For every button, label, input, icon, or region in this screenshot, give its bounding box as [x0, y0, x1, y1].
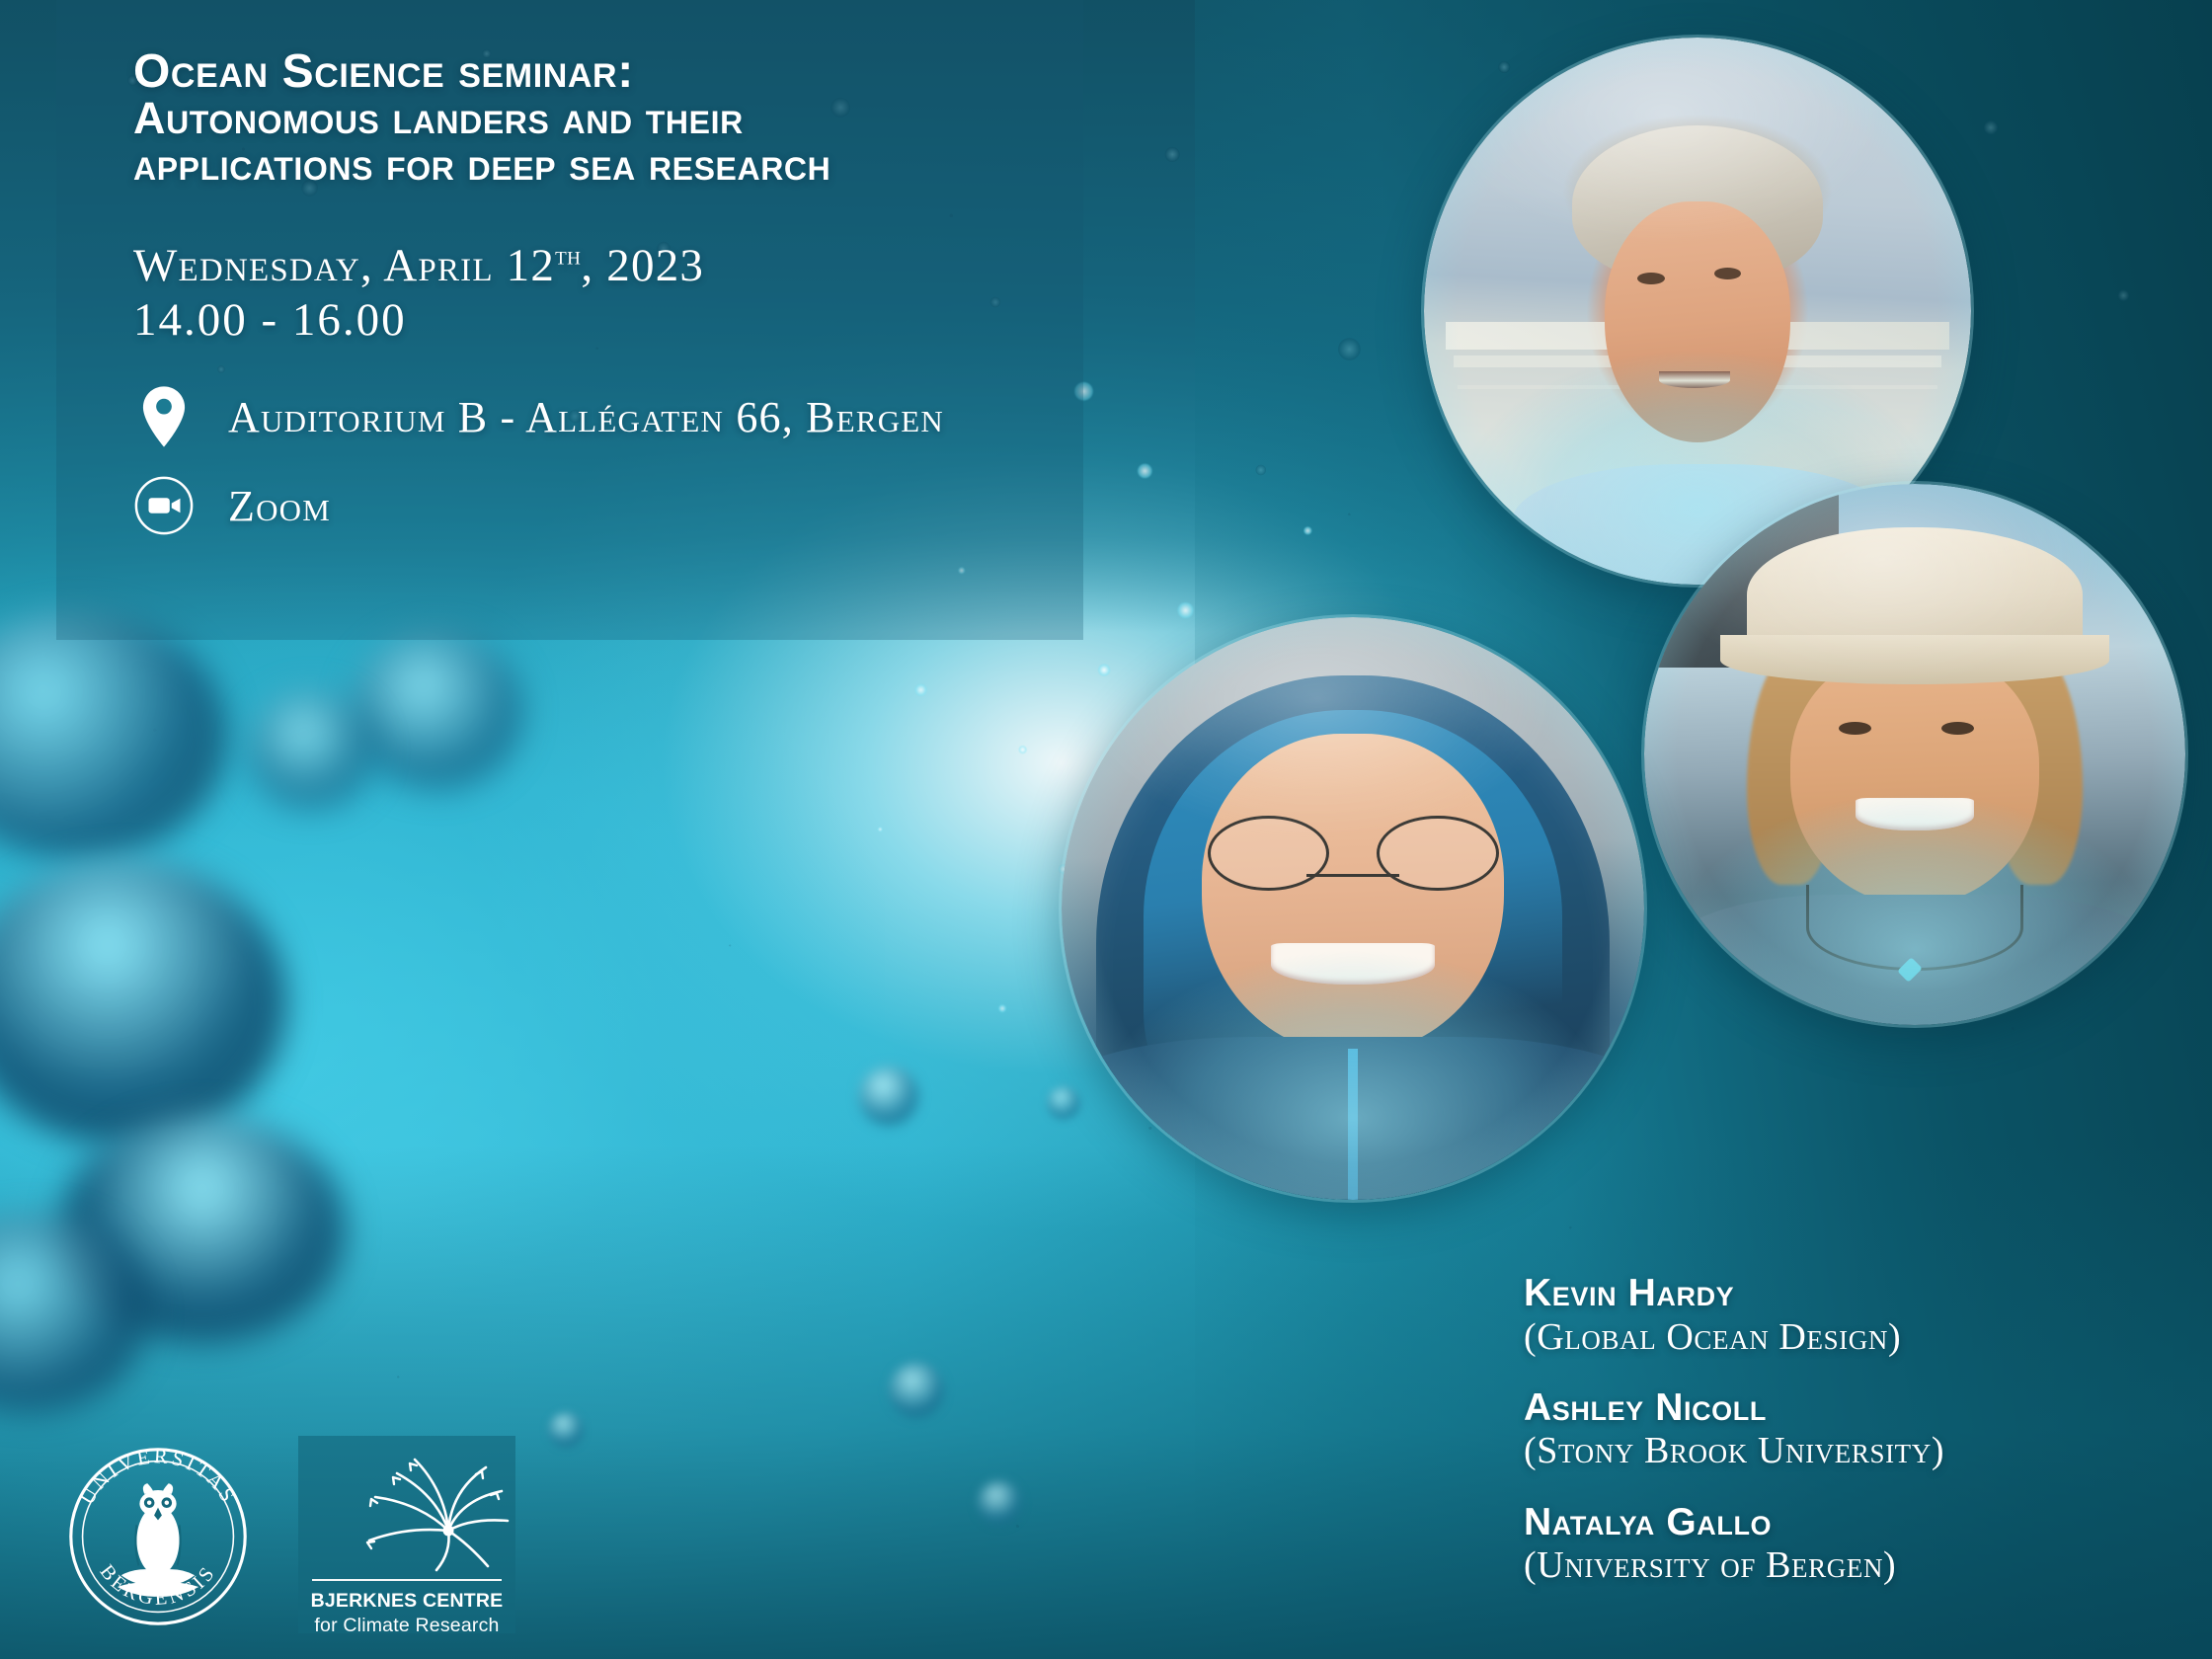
speaker-name: Kevin Hardy	[1524, 1272, 2205, 1315]
speaker-entry: Natalya Gallo (University of Bergen)	[1524, 1501, 2205, 1588]
venue-row: Auditorium B - Allégaten 66, Bergen	[133, 386, 1054, 447]
speaker-affiliation: (Global Ocean Design)	[1524, 1315, 2205, 1359]
speaker-affiliation: (University of Bergen)	[1524, 1543, 2205, 1587]
event-date: Wednesday, April 12	[133, 240, 555, 291]
header-overlay-panel: Ocean Science seminar: Autonomous lander…	[56, 0, 1083, 640]
natalya-gallo-photo	[1644, 484, 2185, 1025]
logo-row: UNIVERSITAS BERGENSIS	[61, 1436, 515, 1633]
event-date-line: Wednesday, April 12th, 2023	[133, 239, 1054, 293]
venue-label: Auditorium B - Allégaten 66, Bergen	[228, 392, 944, 442]
university-of-bergen-seal: UNIVERSITAS BERGENSIS	[61, 1440, 255, 1633]
bjerknes-line-1: BJERKNES CENTRE	[298, 1590, 515, 1613]
speaker-affiliation: (Stony Brook University)	[1524, 1429, 2205, 1472]
speaker-entry: Kevin Hardy (Global Ocean Design)	[1524, 1272, 2205, 1359]
video-camera-icon	[133, 475, 195, 536]
page-title: Ocean Science seminar: Autonomous lander…	[133, 47, 1054, 188]
speaker-list: Kevin Hardy (Global Ocean Design) Ashley…	[1524, 1272, 2205, 1587]
online-label: Zoom	[228, 481, 331, 531]
seminar-poster: Ocean Science seminar: Autonomous lander…	[0, 0, 2212, 1659]
ashley-nicoll-photo	[1062, 617, 1644, 1200]
title-line-1: Ocean Science seminar:	[133, 47, 1054, 96]
online-row: Zoom	[133, 475, 1054, 536]
speaker-name: Ashley Nicoll	[1524, 1386, 2205, 1430]
bjerknes-divider	[312, 1579, 502, 1581]
bjerknes-line-2: for Climate Research	[298, 1615, 515, 1637]
location-pin-icon	[133, 386, 195, 447]
speaker-name: Natalya Gallo	[1524, 1501, 2205, 1544]
title-line-2: Autonomous landers and their	[133, 96, 1054, 141]
speaker-entry: Ashley Nicoll (Stony Brook University)	[1524, 1386, 2205, 1473]
event-datetime: Wednesday, April 12th, 2023 14.00 - 16.0…	[133, 239, 1054, 347]
title-line-3: applications for deep sea research	[133, 142, 1054, 188]
bjerknes-centre-logo: BJERKNES CENTRE for Climate Research	[298, 1436, 515, 1633]
bjerknes-spiral-icon	[298, 1436, 515, 1574]
speaker-photo-bubble-ashley-nicoll	[1062, 617, 1644, 1200]
event-time: 14.00 - 16.00	[133, 293, 1054, 348]
speaker-photo-bubble-natalya-gallo	[1644, 484, 2185, 1025]
event-year: , 2023	[581, 240, 704, 291]
event-date-ordinal: th	[555, 240, 581, 270]
